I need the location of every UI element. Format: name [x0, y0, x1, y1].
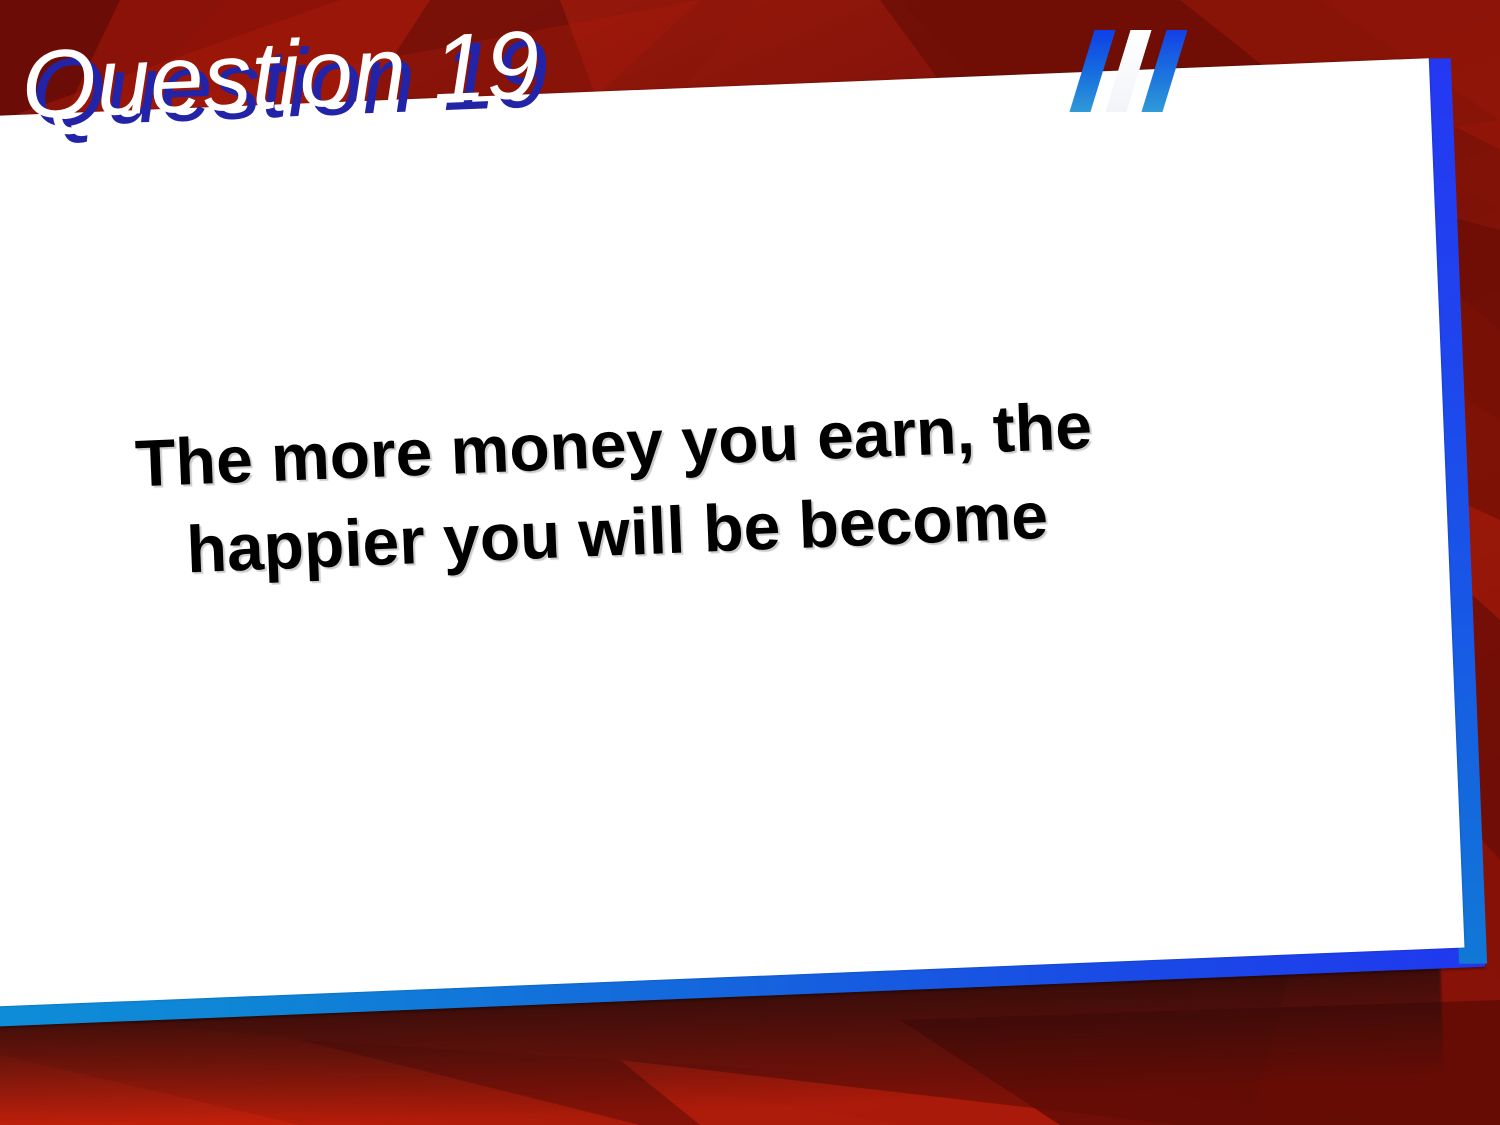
presentation-slide: The more money you earn, the happier you…: [0, 0, 1500, 1125]
slash-icon-right: [1141, 30, 1187, 112]
title-text: Question 19: [20, 11, 542, 139]
content-card: The more money you earn, the happier you…: [0, 57, 1500, 1020]
card-face: The more money you earn, the happier you…: [0, 58, 1464, 1009]
slide-title-group: Question 19 Question 19: [20, 15, 541, 136]
page-title: Question 19 Question 19: [20, 15, 541, 136]
question-body-text: The more money you earn, the happier you…: [22, 378, 1208, 601]
slash-decoration: [1078, 30, 1198, 112]
